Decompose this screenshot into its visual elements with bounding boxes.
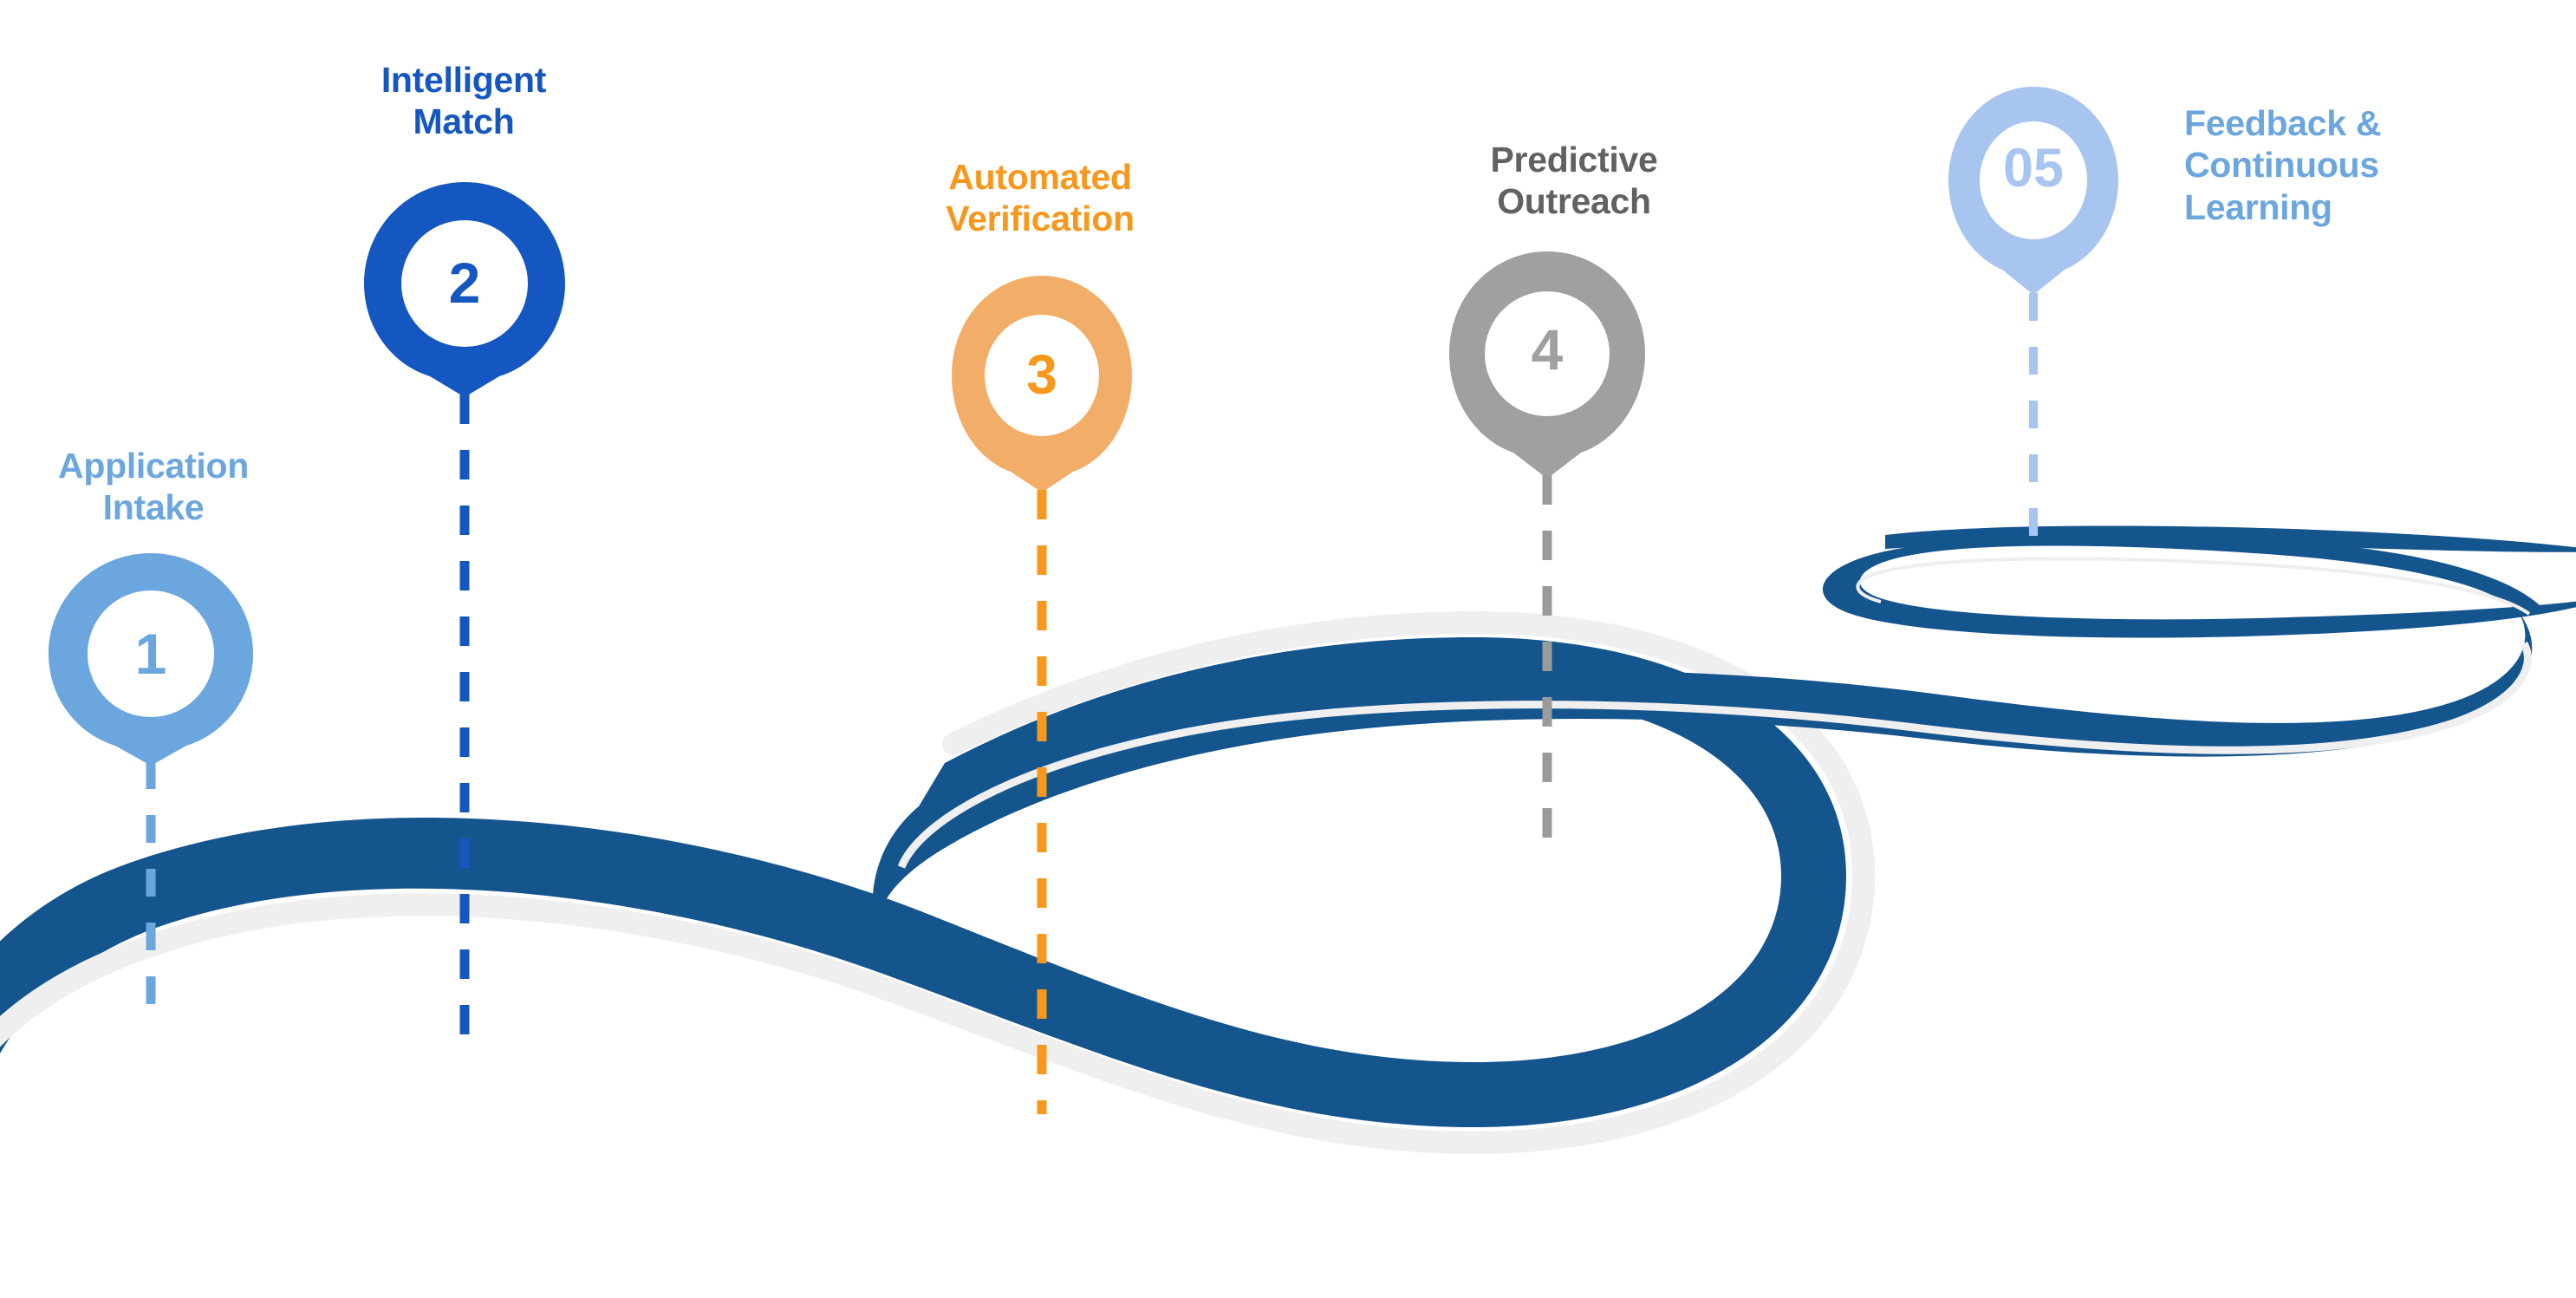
roadmap-infographic: Application Intake 1 Intelligent Match 2 <box>0 0 2576 1298</box>
step-1-connector <box>97 761 205 1021</box>
step-2-number: 2 <box>364 250 565 316</box>
step-2-label: Intelligent Match <box>329 59 598 143</box>
step-1-label: Application Intake <box>10 445 296 529</box>
step-4-connector <box>1493 475 1601 865</box>
step-3-connector <box>988 490 1096 1123</box>
step-5-number: 05 <box>1948 137 2118 199</box>
step-4-number: 4 <box>1449 316 1645 382</box>
step-5-connector <box>1980 293 2087 545</box>
step-5-label: Feedback & Continuous Learning <box>2184 102 2548 228</box>
markers-layer: Application Intake 1 Intelligent Match 2 <box>0 0 2576 1298</box>
step-3-label: Automated Verification <box>875 156 1205 240</box>
step-2-connector <box>411 395 518 1053</box>
step-3-number: 3 <box>952 342 1132 407</box>
step-1-number: 1 <box>49 621 253 687</box>
step-4-label: Predictive Outreach <box>1418 139 1730 223</box>
